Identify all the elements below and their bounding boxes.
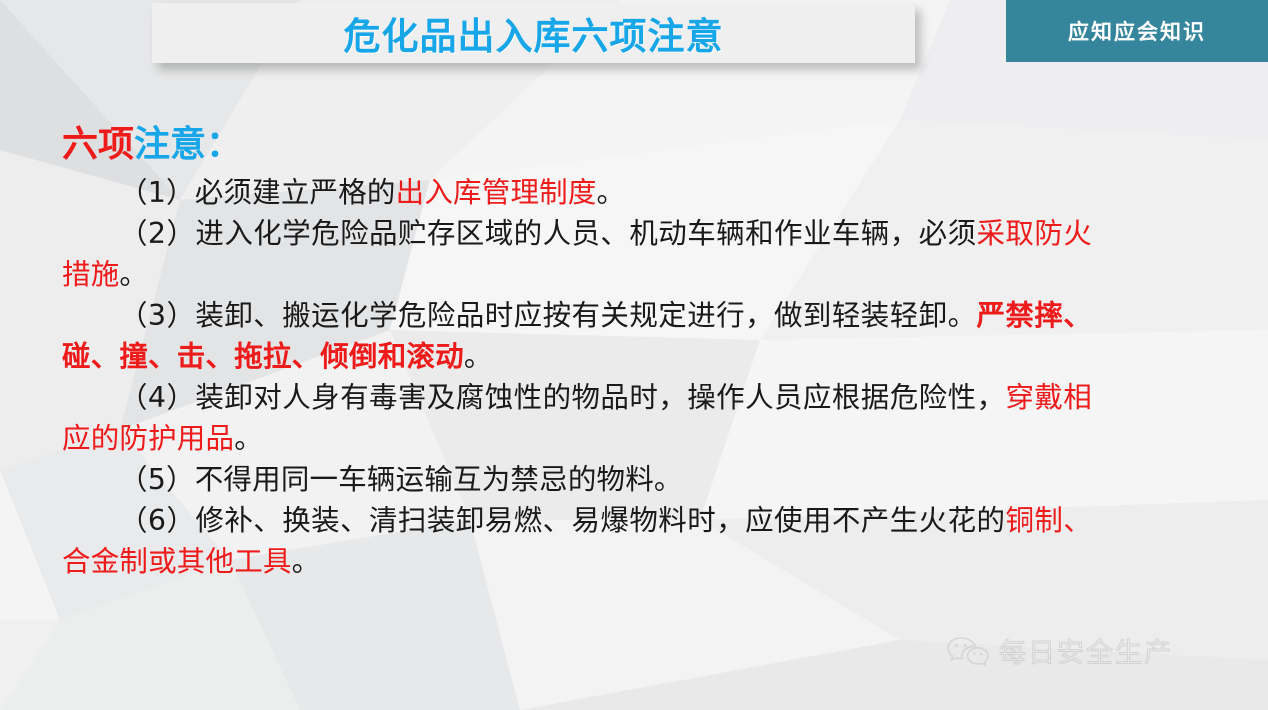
- title-banner: 危化品出入库六项注意: [152, 3, 915, 63]
- notice-item: （6）修补、换装、清扫装卸易燃、易爆物料时，应使用不产生火花的铜制、合金制或其他…: [62, 500, 1092, 582]
- notice-item-text: 。: [597, 176, 626, 209]
- heading-part-blue: 注意：: [134, 124, 242, 165]
- notice-item: （3）装卸、搬运化学危险品时应按有关规定进行，做到轻装轻卸。严禁摔、碰、撞、击、…: [62, 295, 1092, 377]
- notice-item-text: 必须建立严格的: [195, 176, 396, 209]
- notice-item-text: 出入库管理制度: [396, 176, 597, 209]
- notice-item-label: （6）: [119, 504, 195, 537]
- notice-item-text: 装卸对人身有毒害及腐蚀性的物品时，操作人员应根据危险性，: [195, 381, 1005, 414]
- notice-item-label: （5）: [119, 463, 195, 496]
- corner-tag-label: 应知应会知识: [1068, 16, 1206, 46]
- watermark-label: 每日安全生产: [999, 631, 1173, 670]
- content-body: 六项注意： （1）必须建立严格的出入库管理制度。（2）进入化学危险品贮存区域的人…: [62, 122, 1092, 582]
- notice-list: （1）必须建立严格的出入库管理制度。（2）进入化学危险品贮存区域的人员、机动车辆…: [62, 172, 1092, 582]
- notice-item-text: 。: [292, 545, 321, 578]
- notice-item-text: 。: [119, 258, 148, 291]
- notice-item-label: （1）: [119, 176, 195, 209]
- notice-item-text: 。: [234, 422, 263, 455]
- notice-item-text: 装卸、搬运化学危险品时应按有关规定进行，做到轻装轻卸。: [195, 299, 976, 332]
- page-title: 危化品出入库六项注意: [344, 6, 724, 60]
- notice-item: （5）不得用同一车辆运输互为禁忌的物料。: [62, 459, 1092, 500]
- notice-item-text: 不得用同一车辆运输互为禁忌的物料。: [195, 463, 683, 496]
- heading-part-red: 六项: [62, 124, 134, 165]
- notice-item-text: 修补、换装、清扫装卸易燃、易爆物料时，应使用不产生火花的: [195, 504, 1005, 537]
- notice-item-text: 进入化学危险品贮存区域的人员、机动车辆和作业车辆，必须: [195, 217, 976, 250]
- wechat-icon: [946, 636, 990, 666]
- section-heading: 六项注意：: [62, 122, 1092, 168]
- corner-tag: 应知应会知识: [1006, 0, 1268, 62]
- notice-item: （2）进入化学危险品贮存区域的人员、机动车辆和作业车辆，必须采取防火措施。: [62, 213, 1092, 295]
- notice-item: （1）必须建立严格的出入库管理制度。: [62, 172, 1092, 213]
- slide-canvas: 危化品出入库六项注意 应知应会知识 六项注意： （1）必须建立严格的出入库管理制…: [0, 0, 1268, 710]
- notice-item-label: （2）: [119, 217, 195, 250]
- notice-item: （4）装卸对人身有毒害及腐蚀性的物品时，操作人员应根据危险性，穿戴相应的防护用品…: [62, 377, 1092, 459]
- notice-item-label: （4）: [119, 381, 195, 414]
- watermark: 每日安全生产: [946, 631, 1173, 670]
- notice-item-text: 。: [464, 340, 493, 373]
- notice-item-label: （3）: [119, 299, 195, 332]
